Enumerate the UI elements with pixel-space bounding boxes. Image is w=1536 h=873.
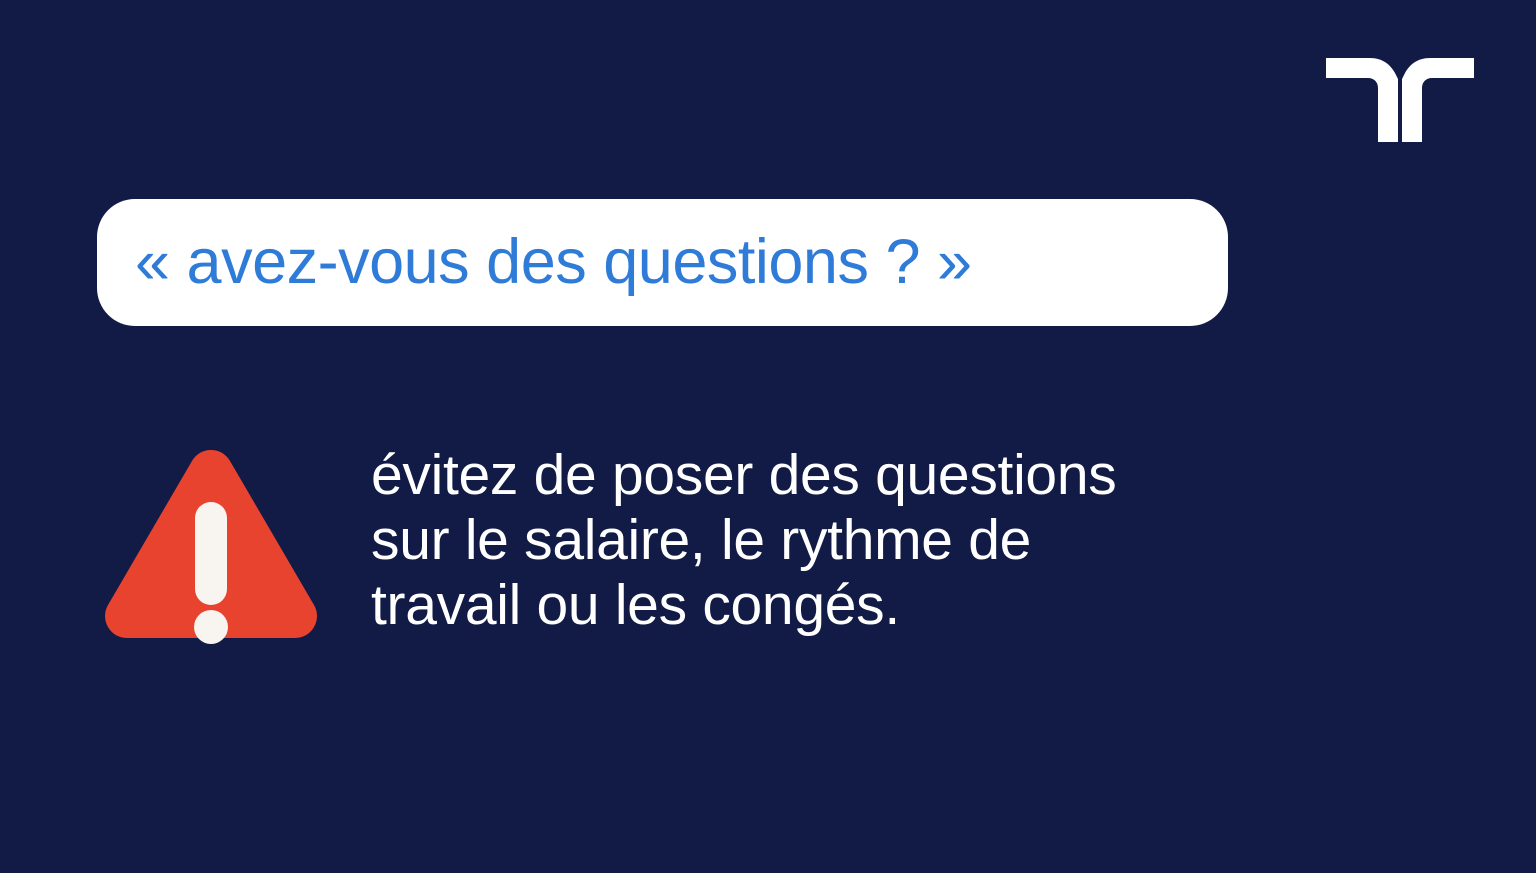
advice-line-1: évitez de poser des questions: [371, 443, 1116, 508]
slide-canvas: « avez-vous des questions ? » évitez de …: [0, 0, 1536, 873]
advice-line-3: travail ou les congés.: [371, 573, 1116, 638]
advice-block: évitez de poser des questions sur le sal…: [100, 440, 1400, 644]
randstad-logo: [1326, 58, 1474, 142]
advice-line-2: sur le salaire, le rythme de: [371, 508, 1116, 573]
headline-pill: « avez-vous des questions ? »: [97, 199, 1228, 326]
advice-text: évitez de poser des questions sur le sal…: [371, 440, 1116, 638]
headline-text: « avez-vous des questions ? »: [135, 231, 972, 294]
warning-triangle-icon: [100, 444, 322, 644]
